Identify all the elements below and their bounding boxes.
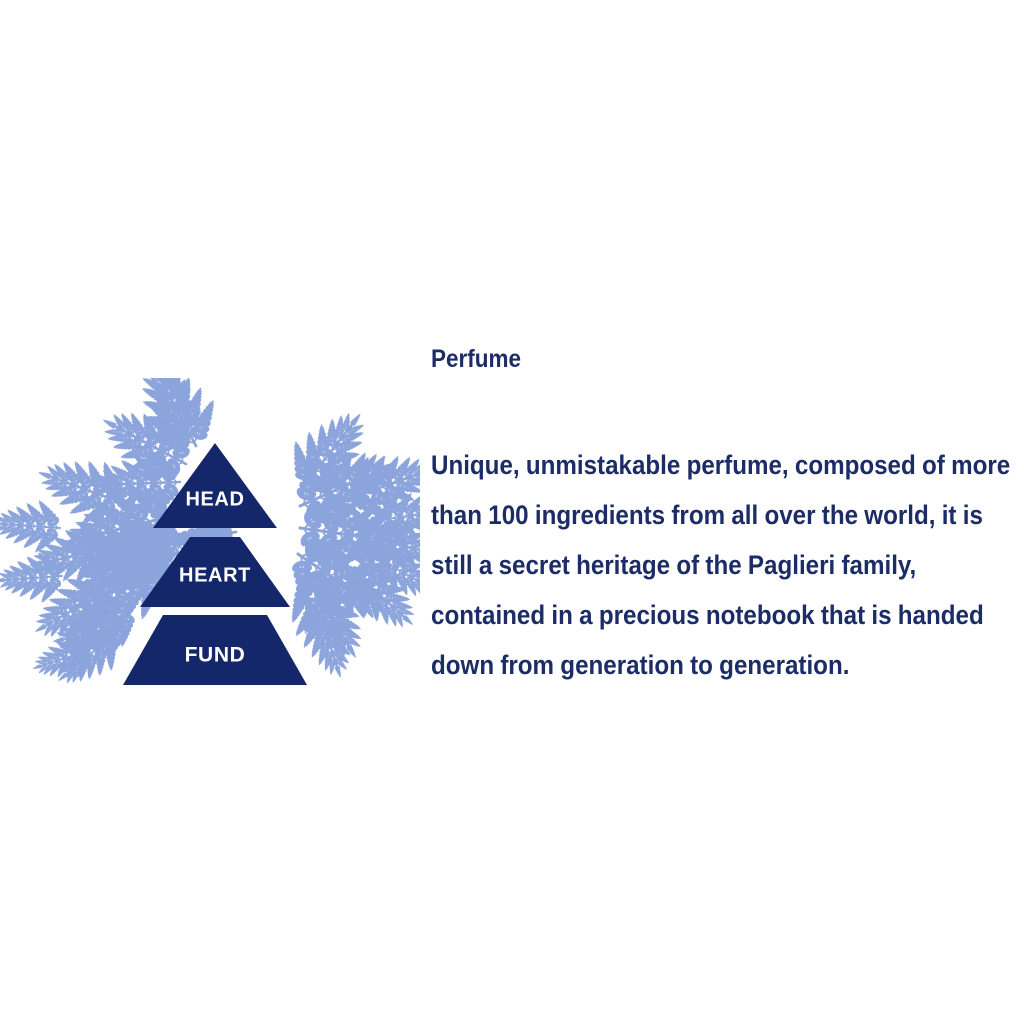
page-root: HEAD HEART FUND Perfume Unique, unmistak…	[0, 0, 1024, 1024]
fragrance-pyramid-figure: HEAD HEART FUND	[0, 378, 420, 698]
pyramid-label-head: HEAD	[185, 488, 244, 510]
pyramid-label-fund: FUND	[185, 644, 246, 667]
pyramid-label-heart: HEART	[179, 564, 251, 586]
description-column: Perfume Unique, unmistakable perfume, co…	[431, 344, 1024, 690]
section-heading: Perfume	[431, 344, 966, 374]
description-paragraph: Unique, unmistakable perfume, composed o…	[431, 374, 1024, 690]
